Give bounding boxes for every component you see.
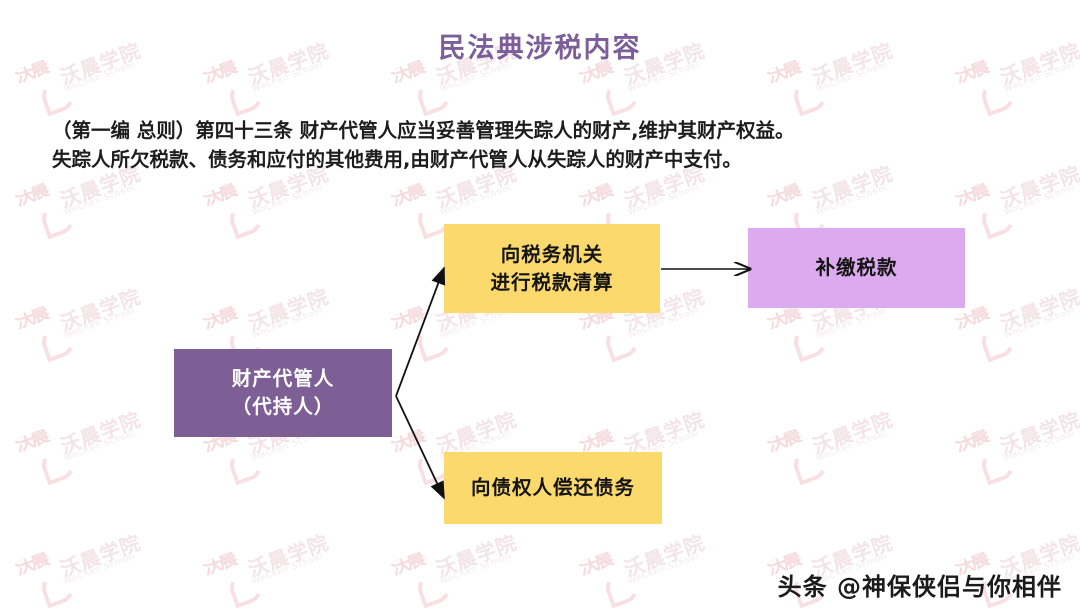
page-title: 民法典涉税内容 (0, 26, 1080, 65)
flow-node-repay-debt-label: 向债权人偿还债务 (471, 474, 635, 502)
flow-node-tax-clearance-label-line-2: 进行税款清算 (490, 269, 613, 297)
flow-node-tax-clearance-label-line-1: 向税务机关 (490, 241, 613, 269)
flow-node-tax-clearance[interactable]: 向税务机关 进行税款清算 (444, 224, 660, 313)
flow-node-custodian-label-line-2: （代持人） (232, 393, 335, 421)
slide-canvas: 沃晨沃晨学院WoChen School沃晨沃晨学院WoChen School沃晨… (0, 0, 1080, 610)
flow-node-repay-debt[interactable]: 向债权人偿还债务 (444, 452, 662, 524)
author-handle: 头条 @神保侠侣与你相伴 (778, 567, 1062, 602)
flow-node-custodian-label-line-1: 财产代管人 (232, 365, 335, 393)
article-paragraph: （第一编 总则）第四十三条 财产代管人应当妥善管理失踪人的财产,维护其财产权益。… (52, 116, 952, 174)
flow-node-pay-tax[interactable]: 补缴税款 (748, 228, 965, 308)
article-paragraph-line-2: 失踪人所欠税款、债务和应付的其他费用,由财产代管人从失踪人的财产中支付。 (52, 145, 952, 174)
flow-node-pay-tax-label: 补缴税款 (815, 254, 897, 282)
flowchart: 财产代管人 （代持人） 向税务机关 进行税款清算 补缴税款 向债权人偿还债务 (0, 0, 1080, 610)
flow-node-custodian[interactable]: 财产代管人 （代持人） (174, 349, 392, 437)
article-paragraph-line-1: （第一编 总则）第四十三条 财产代管人应当妥善管理失踪人的财产,维护其财产权益。 (52, 116, 952, 145)
